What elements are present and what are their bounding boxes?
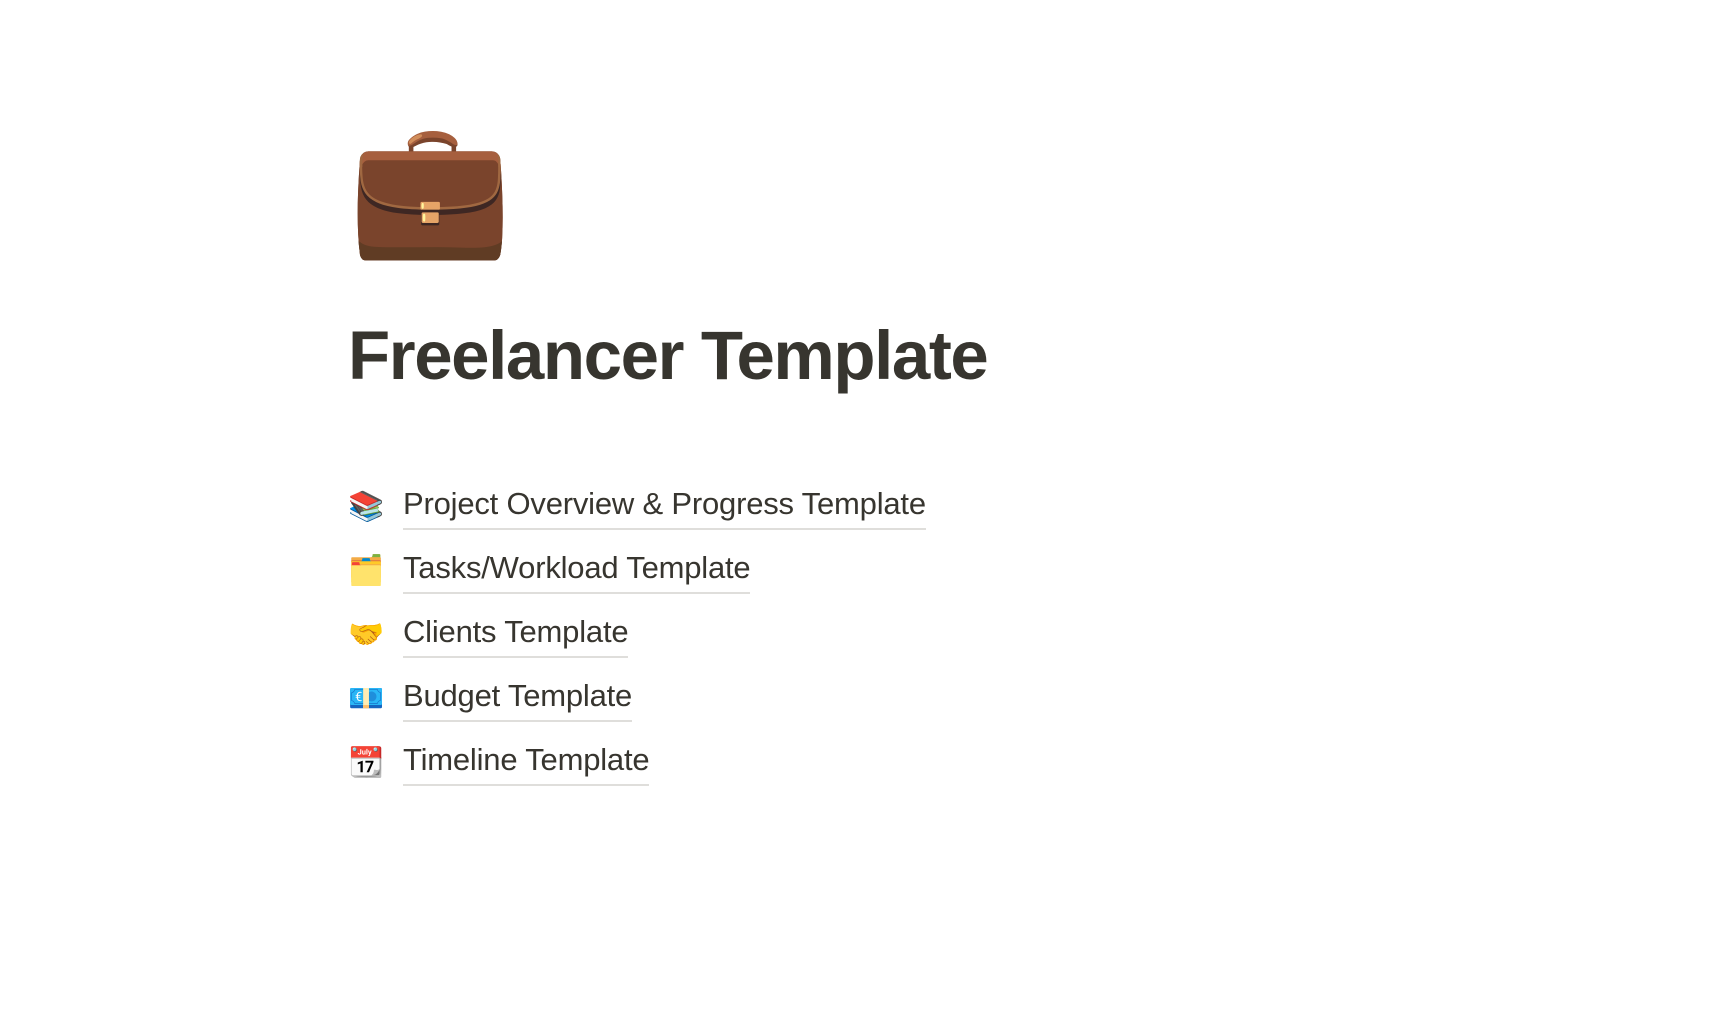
link-timeline-template[interactable]: Timeline Template	[403, 739, 649, 786]
list-item: 🗂️ Tasks/Workload Template	[348, 538, 1628, 602]
list-item: 📚 Project Overview & Progress Template	[348, 474, 1628, 538]
link-budget-template[interactable]: Budget Template	[403, 675, 632, 722]
card-index-dividers-icon: 🗂️	[348, 556, 386, 585]
link-tasks-workload-template[interactable]: Tasks/Workload Template	[403, 547, 750, 594]
tear-off-calendar-icon: 📆	[348, 748, 386, 777]
briefcase-icon[interactable]: 💼	[348, 112, 500, 264]
page-content: 💼 Freelancer Template 📚 Project Overview…	[348, 0, 1628, 794]
link-clients-template[interactable]: Clients Template	[403, 611, 628, 658]
books-icon: 📚	[348, 492, 386, 521]
list-item: 📆 Timeline Template	[348, 730, 1628, 794]
link-project-overview-progress-template[interactable]: Project Overview & Progress Template	[403, 483, 926, 530]
page-canvas: 💼 Freelancer Template 📚 Project Overview…	[0, 0, 1734, 1024]
list-item: 🤝 Clients Template	[348, 602, 1628, 666]
euro-banknote-icon: 💶	[348, 684, 386, 713]
handshake-icon: 🤝	[348, 620, 386, 649]
list-item: 💶 Budget Template	[348, 666, 1628, 730]
template-link-list: 📚 Project Overview & Progress Template 🗂…	[348, 474, 1628, 794]
page-title: Freelancer Template	[348, 320, 1628, 392]
